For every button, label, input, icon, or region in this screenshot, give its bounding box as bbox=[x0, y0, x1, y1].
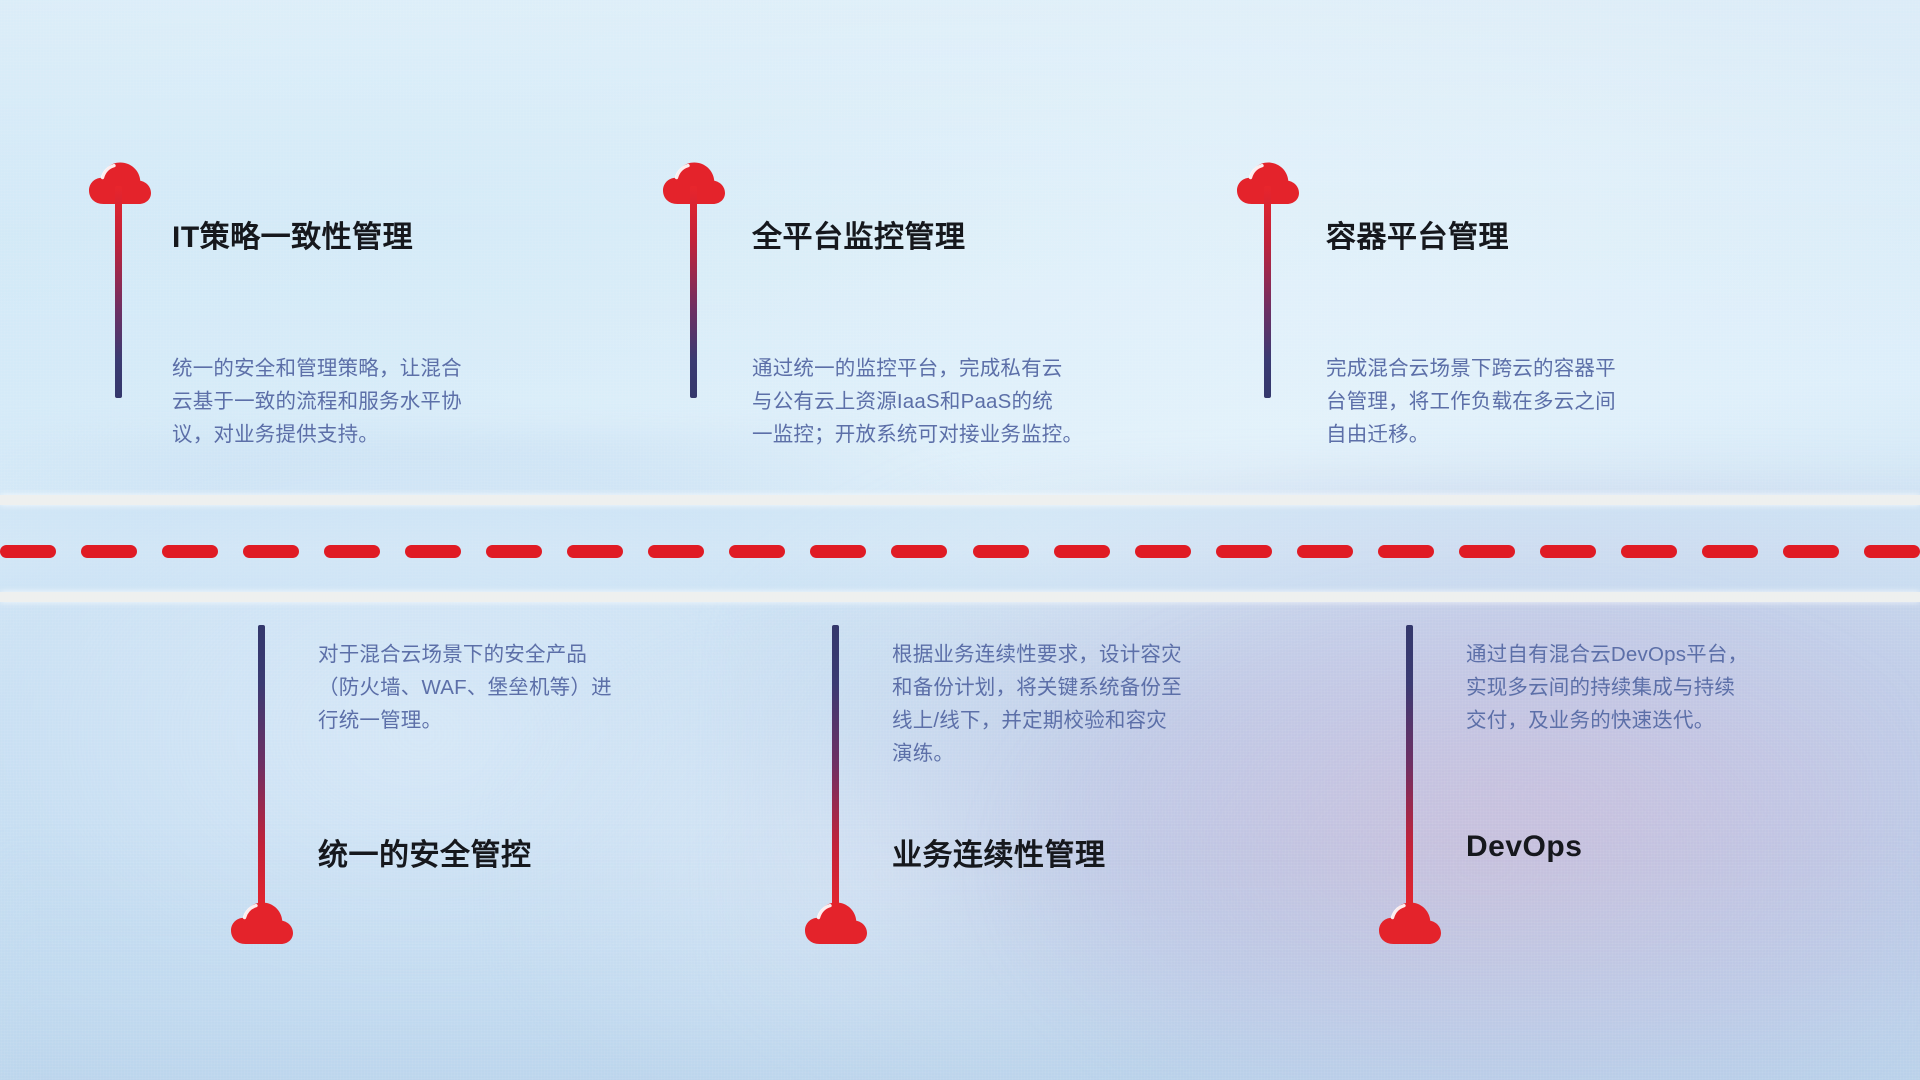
road-dash bbox=[162, 545, 218, 558]
column-body-text: 完成混合云场景下跨云的容器平 台管理，将工作负载在多云之间 自由迁移。 bbox=[1326, 352, 1696, 451]
column-body-text: 对于混合云场景下的安全产品 （防火墙、WAF、堡垒机等）进 行统一管理。 bbox=[318, 638, 688, 737]
road-edge-line-bottom bbox=[0, 592, 1920, 602]
road-dash bbox=[1459, 545, 1515, 558]
column-body-text: 统一的安全和管理策略，让混合 云基于一致的流程和服务水平协 议，对业务提供支持。 bbox=[172, 352, 542, 451]
road-dash bbox=[567, 545, 623, 558]
infographic-canvas: IT策略一致性管理 统一的安全和管理策略，让混合 云基于一致的流程和服务水平协 … bbox=[0, 0, 1920, 1080]
road-dash bbox=[81, 545, 137, 558]
column-body-text: 通过统一的监控平台，完成私有云 与公有云上资源IaaS和PaaS的统 一监控；开… bbox=[752, 352, 1122, 451]
marker-stem bbox=[115, 186, 122, 398]
cloud-icon bbox=[230, 900, 294, 950]
column-title: 容器平台管理 bbox=[1326, 212, 1509, 256]
road-dash bbox=[486, 545, 542, 558]
road-dash bbox=[324, 545, 380, 558]
road-dash bbox=[1054, 545, 1110, 558]
road-edge-line-top bbox=[0, 495, 1920, 505]
marker-stem bbox=[258, 625, 265, 915]
road-dash bbox=[405, 545, 461, 558]
road-dash bbox=[1135, 545, 1191, 558]
cloud-icon bbox=[804, 900, 868, 950]
road-dash bbox=[1783, 545, 1839, 558]
column-title: 统一的安全管控 bbox=[318, 830, 532, 874]
road-dash bbox=[648, 545, 704, 558]
road-dash bbox=[243, 545, 299, 558]
marker-stem bbox=[1264, 186, 1271, 398]
column-body-text: 根据业务连续性要求，设计容灾 和备份计划，将关键系统备份至 线上/线下，并定期校… bbox=[892, 638, 1262, 770]
road-dash bbox=[1216, 545, 1272, 558]
column-title: IT策略一致性管理 bbox=[172, 212, 413, 256]
column-title: DevOps bbox=[1466, 830, 1582, 864]
road-center-dashes bbox=[0, 545, 1920, 558]
marker-stem bbox=[1406, 625, 1413, 915]
column-body-text: 通过自有混合云DevOps平台， 实现多云间的持续集成与持续 交付，及业务的快速… bbox=[1466, 638, 1836, 737]
marker-stem bbox=[690, 186, 697, 398]
road-dash bbox=[1540, 545, 1596, 558]
marker-stem bbox=[832, 625, 839, 915]
road-dash bbox=[1702, 545, 1758, 558]
road-dash bbox=[1621, 545, 1677, 558]
road-dash bbox=[729, 545, 785, 558]
cloud-icon bbox=[1378, 900, 1442, 950]
road-dash bbox=[0, 545, 56, 558]
road-dash bbox=[973, 545, 1029, 558]
road-dash bbox=[1378, 545, 1434, 558]
column-title: 业务连续性管理 bbox=[892, 830, 1106, 874]
column-title: 全平台监控管理 bbox=[752, 212, 966, 256]
road-dash bbox=[810, 545, 866, 558]
road-dash bbox=[1864, 545, 1920, 558]
road-dash bbox=[891, 545, 947, 558]
road-dash bbox=[1297, 545, 1353, 558]
